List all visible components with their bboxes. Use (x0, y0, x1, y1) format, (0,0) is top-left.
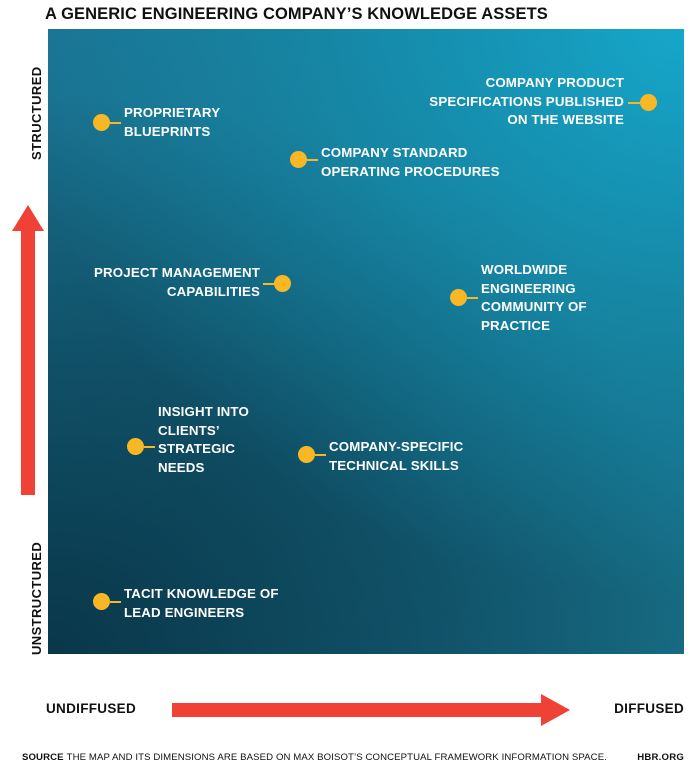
data-point-label: PROJECT MANAGEMENT CAPABILITIES (22, 264, 260, 301)
dot-connector (110, 122, 121, 124)
inside-outside-double-arrow (222, 658, 492, 684)
axis-label-unstructured: UNSTRUCTURED (29, 542, 44, 655)
axis-label-inside-company: INSIDE THE COMPANY (58, 662, 209, 677)
page-title: A GENERIC ENGINEERING COMPANY’S KNOWLEDG… (45, 3, 685, 25)
dot-connector (628, 102, 640, 104)
axis-label-diffused: DIFFUSED (614, 701, 684, 716)
dot-connector (144, 446, 155, 448)
axis-label-undiffused: UNDIFFUSED (46, 701, 136, 716)
data-point-label: INSIGHT INTO CLIENTS’ STRATEGIC NEEDS (158, 403, 338, 477)
structure-direction-arrow (12, 205, 44, 495)
data-dot[interactable] (274, 275, 291, 292)
data-point-label: TACIT KNOWLEDGE OF LEAD ENGINEERS (124, 585, 374, 622)
footer: SOURCETHE MAP AND ITS DIMENSIONS ARE BAS… (22, 751, 684, 764)
data-dot[interactable] (93, 593, 110, 610)
dot-connector (110, 601, 121, 603)
data-dot[interactable] (640, 94, 657, 111)
data-dot[interactable] (93, 114, 110, 131)
dot-connector (467, 297, 478, 299)
dot-connector (307, 159, 318, 161)
data-point-label: COMPANY PRODUCT SPECIFICATIONS PUBLISHED… (293, 74, 624, 130)
data-dot[interactable] (290, 151, 307, 168)
data-point-label: WORLDWIDE ENGINEERING COMMUNITY OF PRACT… (481, 261, 681, 335)
data-dot[interactable] (127, 438, 144, 455)
data-dot[interactable] (450, 289, 467, 306)
axis-label-outside-company: OUTSIDE THE COMPANY (504, 662, 670, 677)
data-point-label: COMPANY STANDARD OPERATING PROCEDURES (321, 144, 586, 181)
diffusion-direction-arrow (172, 694, 570, 726)
axis-label-structured: STRUCTURED (29, 66, 44, 160)
data-point-label: COMPANY-SPECIFIC TECHNICAL SKILLS (329, 438, 574, 475)
footer-source-text: THE MAP AND ITS DIMENSIONS ARE BASED ON … (67, 752, 607, 763)
footer-source-label: SOURCE (22, 752, 64, 763)
footer-brand: HBR.ORG (637, 751, 684, 764)
